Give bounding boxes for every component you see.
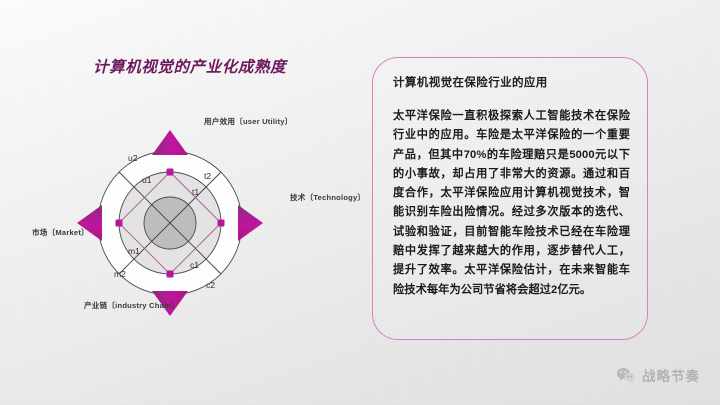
ring-label-t1: t1: [192, 187, 199, 197]
node-dot-bottom: [167, 271, 174, 278]
node-dot-right: [218, 220, 225, 227]
ring-label-c2: c2: [206, 280, 215, 290]
right-arrow-icon: [238, 205, 263, 241]
wechat-icon: [616, 367, 636, 384]
maturity-diagram: u2 u1 t2 t1 m1 m2 c1 c2 用户效用〔user Utilit…: [18, 108, 368, 338]
maturity-diagram-svg: u2 u1 t2 t1 m1 m2 c1 c2: [18, 108, 368, 338]
insurance-application-card: 计算机视觉在保险行业的应用 太平洋保险一直积极探索人工智能技术在保险行业中的应用…: [372, 57, 648, 340]
card-heading: 计算机视觉在保险行业的应用: [393, 74, 630, 90]
ring-label-u1: u1: [142, 175, 152, 185]
node-dot-left: [116, 220, 123, 227]
up-arrow-icon: [152, 130, 188, 155]
axis-label-user-utility: 用户效用〔user Utility〕: [204, 116, 292, 127]
ring-label-c1: c1: [190, 260, 199, 270]
ring-label-m1: m1: [128, 246, 140, 256]
axis-label-market: 市场〔Market〕: [32, 227, 89, 238]
ring-label-m2: m2: [114, 269, 126, 279]
card-body-text: 太平洋保险一直积极探索人工智能技术在保险行业中的应用。车险是太平洋保险的一个重要…: [393, 107, 630, 300]
ring-label-t2: t2: [204, 171, 211, 181]
ring-label-u2: u2: [128, 153, 138, 163]
node-dot-top: [167, 169, 174, 176]
watermark: 战略节奏: [616, 365, 700, 385]
page-title: 计算机视觉的产业化成熟度: [93, 55, 286, 77]
axis-label-industry-chain: 产业链〔industry Chain〕: [84, 300, 179, 311]
axis-label-technology: 技术〔Technology〕: [290, 192, 365, 203]
watermark-text: 战略节奏: [642, 365, 700, 385]
slide-canvas: 计算机视觉的产业化成熟度: [0, 0, 720, 405]
